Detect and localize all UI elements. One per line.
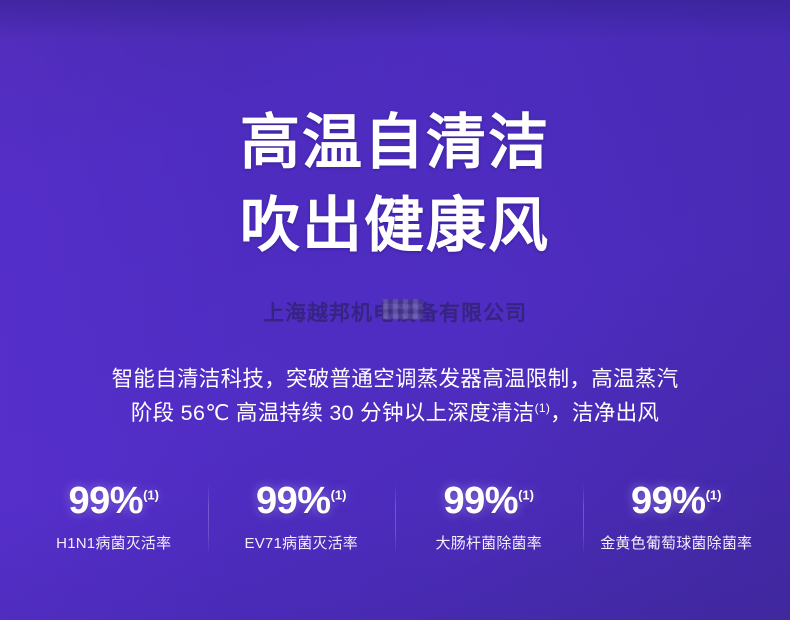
body-copy-footnote-marker: (1): [535, 401, 551, 415]
body-copy-line-1: 智能自清洁科技，突破普通空调蒸发器高温限制，高温蒸汽: [55, 362, 735, 396]
headline-line-1: 高温自清洁: [0, 113, 790, 173]
stat-item-h1n1: 99%(1) H1N1病菌灭活率: [20, 482, 208, 553]
stat-label: H1N1病菌灭活率: [20, 532, 208, 553]
headline-line-2: 吹出健康风: [0, 196, 790, 256]
watermark-mosaic-redaction: [383, 299, 423, 319]
promo-poster: 高温自清洁 吹出健康风 上海越邦机电设备有限公司 智能自清洁科技，突破普通空调蒸…: [0, 0, 790, 620]
stat-item-staphylococcus: 99%(1) 金黄色葡萄球菌除菌率: [583, 482, 771, 553]
body-copy-line-2: 阶段 56℃ 高温持续 30 分钟以上深度清洁(1)，洁净出风: [55, 396, 735, 430]
stat-footnote-marker: (1): [518, 487, 534, 502]
stat-value-number: 99%: [256, 480, 331, 522]
stat-footnote-marker: (1): [143, 487, 159, 502]
stat-label: EV71病菌灭活率: [208, 532, 396, 553]
stat-footnote-marker: (1): [706, 487, 722, 502]
stat-footnote-marker: (1): [331, 487, 347, 502]
stat-value: 99%(1): [20, 482, 208, 522]
body-copy: 智能自清洁科技，突破普通空调蒸发器高温限制，高温蒸汽 阶段 56℃ 高温持续 3…: [55, 362, 735, 430]
stat-label: 大肠杆菌除菌率: [395, 532, 583, 553]
stat-value-number: 99%: [631, 480, 706, 522]
body-copy-line-2-text: 阶段 56℃ 高温持续 30 分钟以上深度清洁: [131, 401, 535, 425]
stat-value: 99%(1): [583, 482, 771, 522]
stat-value-number: 99%: [69, 480, 144, 522]
poster-content: 高温自清洁 吹出健康风 上海越邦机电设备有限公司 智能自清洁科技，突破普通空调蒸…: [0, 0, 790, 620]
stat-value: 99%(1): [208, 482, 396, 522]
stats-row: 99%(1) H1N1病菌灭活率 99%(1) EV71病菌灭活率 99%(1)…: [20, 482, 770, 572]
stat-item-ev71: 99%(1) EV71病菌灭活率: [208, 482, 396, 553]
stat-label: 金黄色葡萄球菌除菌率: [583, 532, 771, 553]
stat-item-ecoli: 99%(1) 大肠杆菌除菌率: [395, 482, 583, 553]
stat-value-number: 99%: [444, 480, 519, 522]
body-copy-line-2-tail: ，洁净出风: [550, 401, 659, 425]
stat-value: 99%(1): [395, 482, 583, 522]
